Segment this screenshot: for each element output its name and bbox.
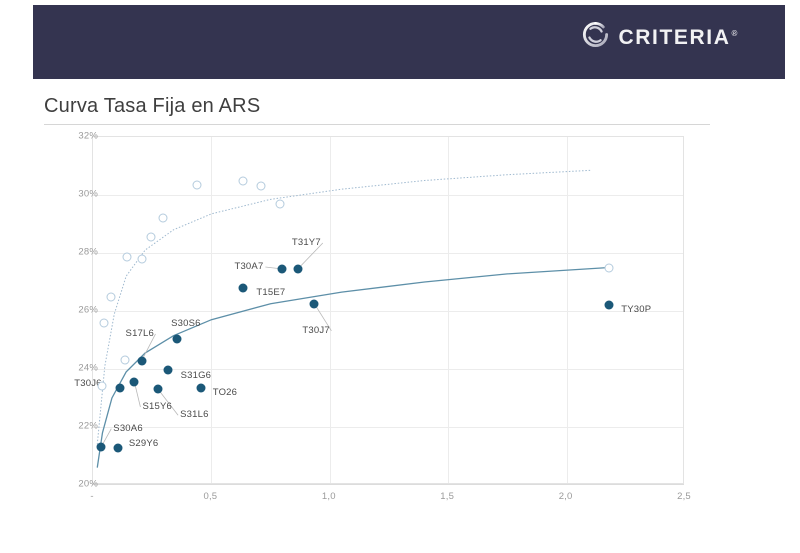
- data-point-s17l6: [137, 356, 146, 365]
- data-point-t30a7: [278, 264, 287, 273]
- data-point: [123, 253, 132, 262]
- data-point-s15y6: [130, 378, 139, 387]
- data-point-s31l6: [154, 385, 163, 394]
- point-label-s29y6: S29Y6: [129, 438, 159, 449]
- x-axis-tick-label: 0,5: [190, 491, 230, 502]
- data-point-s30a6: [97, 442, 106, 451]
- point-label-s15y6: S15Y6: [142, 401, 172, 412]
- screenshot-root: CRITERIA® Curva Tasa Fija en ARS S30A6S2…: [0, 0, 800, 553]
- point-label-t31y7: T31Y7: [292, 237, 321, 248]
- point-label-s30s6: S30S6: [171, 318, 201, 329]
- data-point: [98, 382, 107, 391]
- label-leader-layer: [93, 137, 685, 485]
- data-point: [147, 233, 156, 242]
- point-label-t30a7: T30A7: [234, 261, 263, 272]
- y-axis-tick-label: 32%: [58, 131, 98, 142]
- y-axis-tick-label: 20%: [58, 479, 98, 490]
- x-axis-line: [92, 484, 684, 485]
- data-point-s30s6: [173, 334, 182, 343]
- x-axis-tick-label: 2,5: [664, 491, 704, 502]
- x-axis-tick-label: 1,0: [309, 491, 349, 502]
- data-point-to26: [196, 383, 205, 392]
- data-point: [120, 356, 129, 365]
- data-point-s29y6: [113, 443, 122, 452]
- point-label-to26: TO26: [213, 387, 237, 398]
- x-axis-tick-label: 2,0: [546, 491, 586, 502]
- point-label-s31l6: S31L6: [180, 409, 208, 420]
- data-point: [137, 254, 146, 263]
- data-point-t30j6: [116, 383, 125, 392]
- data-point-t30j7: [310, 299, 319, 308]
- data-point-s31g6: [163, 366, 172, 375]
- point-label-s30a6: S30A6: [113, 423, 143, 434]
- x-axis-tick-label: -: [72, 491, 112, 502]
- chart-container: S30A6S29Y6T30J6S15Y6S31L6S31G6S17L6S30S6…: [0, 0, 800, 553]
- data-point: [99, 318, 108, 327]
- y-axis-tick-label: 24%: [58, 363, 98, 374]
- point-label-t15e7: T15E7: [256, 287, 285, 298]
- data-point: [106, 292, 115, 301]
- data-point: [276, 199, 285, 208]
- data-point: [158, 214, 167, 223]
- y-axis-tick-label: 28%: [58, 247, 98, 258]
- plot-area: S30A6S29Y6T30J6S15Y6S31L6S31G6S17L6S30S6…: [92, 136, 684, 484]
- data-point-t31y7: [293, 264, 302, 273]
- point-label-ty30p: TY30P: [621, 304, 651, 315]
- y-axis-tick-label: 22%: [58, 421, 98, 432]
- y-axis-tick-label: 30%: [58, 189, 98, 200]
- y-axis-tick-label: 26%: [58, 305, 98, 316]
- data-point: [605, 263, 614, 272]
- data-point: [257, 182, 266, 191]
- data-point: [239, 176, 248, 185]
- x-axis-tick-label: 1,5: [427, 491, 467, 502]
- data-point-t15e7: [239, 283, 248, 292]
- point-label-s31g6: S31G6: [181, 370, 212, 381]
- point-label-t30j7: T30J7: [302, 325, 329, 336]
- data-point-ty30p: [605, 301, 614, 310]
- data-point: [193, 180, 202, 189]
- point-label-s17l6: S17L6: [126, 328, 154, 339]
